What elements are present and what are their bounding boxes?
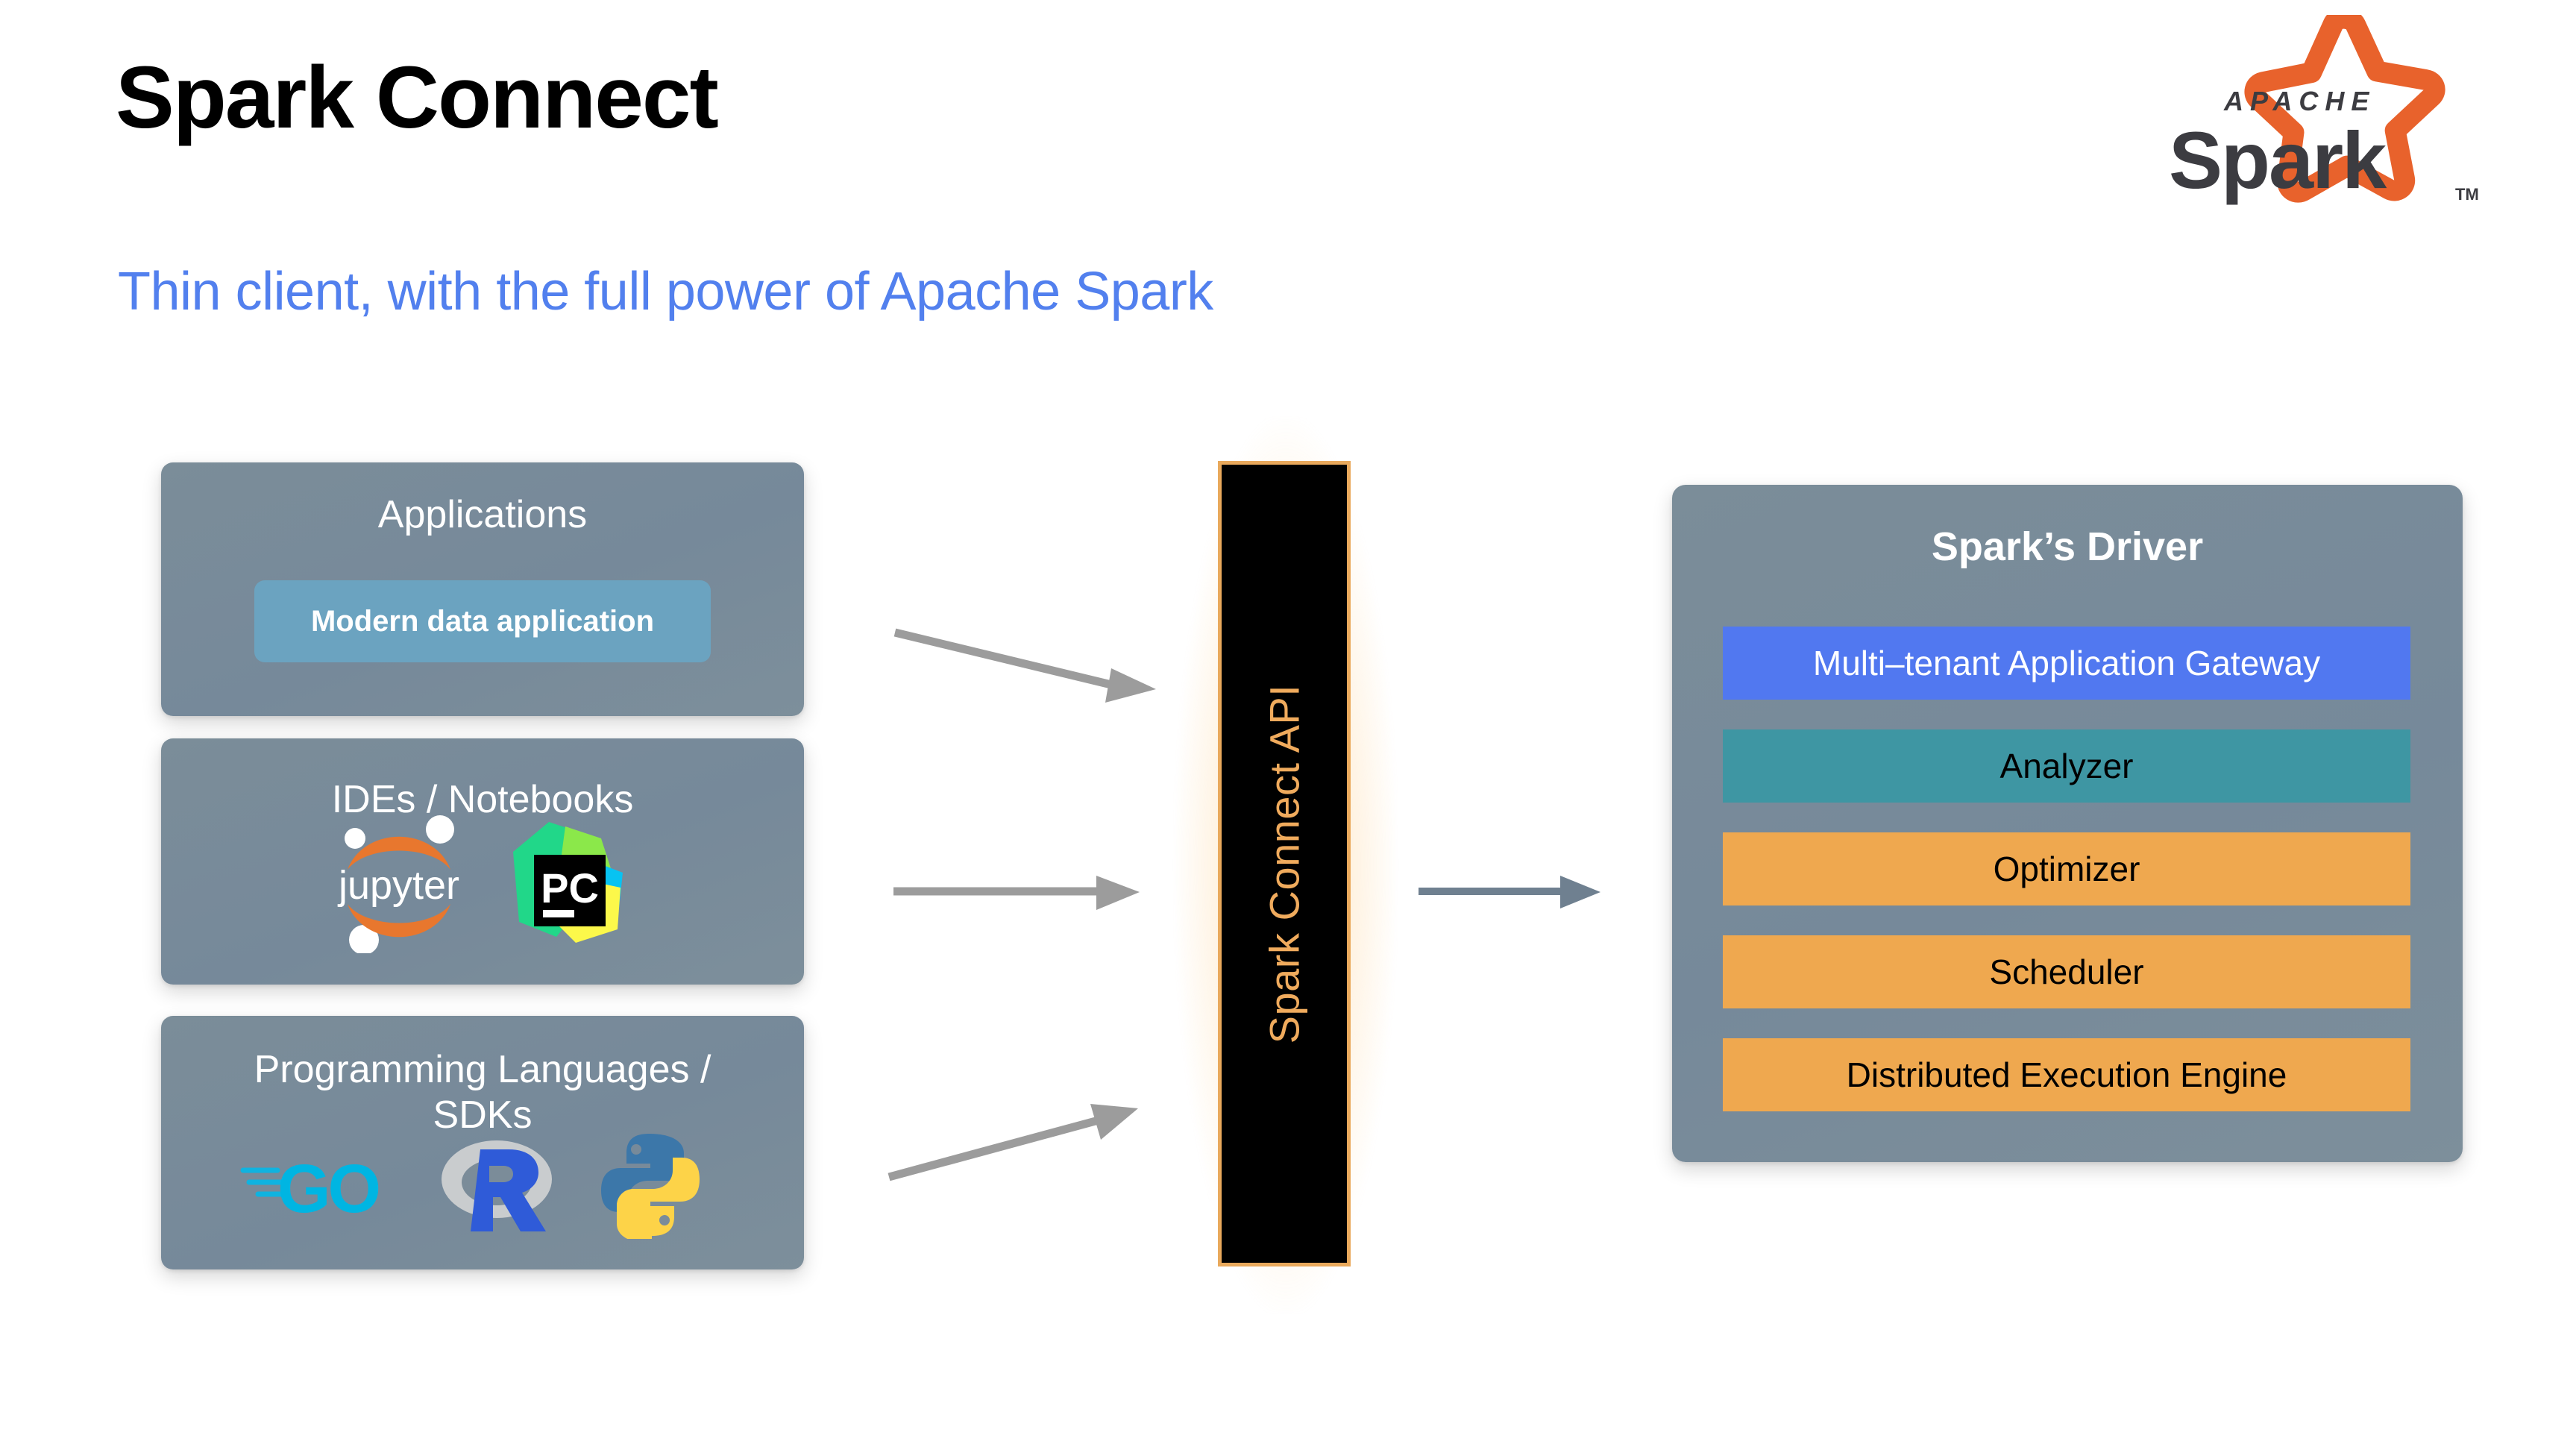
- logo-spark-text: Spark: [2169, 115, 2387, 205]
- go-logo: GO: [239, 1140, 395, 1234]
- driver-row-optimizer[interactable]: Optimizer: [1723, 832, 2410, 905]
- r-logo: [437, 1133, 556, 1241]
- apache-spark-logo: APACHE Spark TM: [2133, 15, 2506, 224]
- arrow-languages-to-api: [858, 1059, 1201, 1208]
- python-logo: [598, 1131, 703, 1243]
- pycharm-logo: PC: [507, 817, 630, 952]
- ides-logo-row: jupyter PC: [328, 812, 630, 957]
- page-title: Spark Connect: [116, 52, 717, 145]
- driver-row-distributed-execution-engine[interactable]: Distributed Execution Engine: [1723, 1038, 2410, 1111]
- spark-connect-api-bar[interactable]: Spark Connect API: [1218, 461, 1351, 1266]
- driver-row-multi-tenant-application-gateway[interactable]: Multi–tenant Application Gateway: [1723, 627, 2410, 700]
- modern-data-application-label: Modern data application: [311, 605, 654, 638]
- card-applications-title: Applications: [161, 492, 804, 538]
- jupyter-dot-top-right: [426, 815, 454, 844]
- go-speed-lines: [243, 1170, 282, 1194]
- arrow-api-to-driver: [1410, 858, 1633, 932]
- driver-row-label: Optimizer: [1994, 849, 2140, 889]
- driver-row-analyzer[interactable]: Analyzer: [1723, 729, 2410, 803]
- pycharm-badge-label: PC: [541, 864, 599, 911]
- jupyter-dot-top-left: [345, 828, 365, 849]
- spark-connect-api-label: Spark Connect API: [1260, 684, 1309, 1043]
- jupyter-logo: jupyter: [328, 812, 470, 957]
- go-wordmark: GO: [277, 1151, 379, 1227]
- page-subtitle: Thin client, with the full power of Apac…: [118, 261, 1213, 322]
- modern-data-application-pill[interactable]: Modern data application: [254, 580, 711, 662]
- arrow-ides-to-api: [858, 858, 1201, 947]
- driver-row-label: Distributed Execution Engine: [1847, 1055, 2287, 1095]
- card-spark-driver[interactable]: Spark’s Driver Multi–tenant Application …: [1672, 485, 2463, 1162]
- jupyter-wordmark: jupyter: [337, 863, 459, 908]
- card-programming-languages-title: Programming Languages / SDKs: [161, 1047, 804, 1139]
- card-applications[interactable]: Applications Modern data application: [161, 462, 804, 716]
- pycharm-underscore: [543, 910, 574, 917]
- languages-logo-row: GO: [239, 1131, 703, 1243]
- logo-trademark: TM: [2455, 185, 2479, 204]
- slide-canvas: Spark Connect Thin client, with the full…: [0, 0, 2576, 1447]
- arrow-applications-to-api: [858, 597, 1201, 761]
- driver-row-label: Scheduler: [1989, 952, 2143, 992]
- driver-row-scheduler[interactable]: Scheduler: [1723, 935, 2410, 1008]
- driver-row-label: Analyzer: [2000, 746, 2134, 786]
- card-spark-driver-title: Spark’s Driver: [1672, 524, 2463, 571]
- driver-row-label: Multi–tenant Application Gateway: [1813, 643, 2320, 683]
- logo-apache-text: APACHE: [2223, 86, 2375, 116]
